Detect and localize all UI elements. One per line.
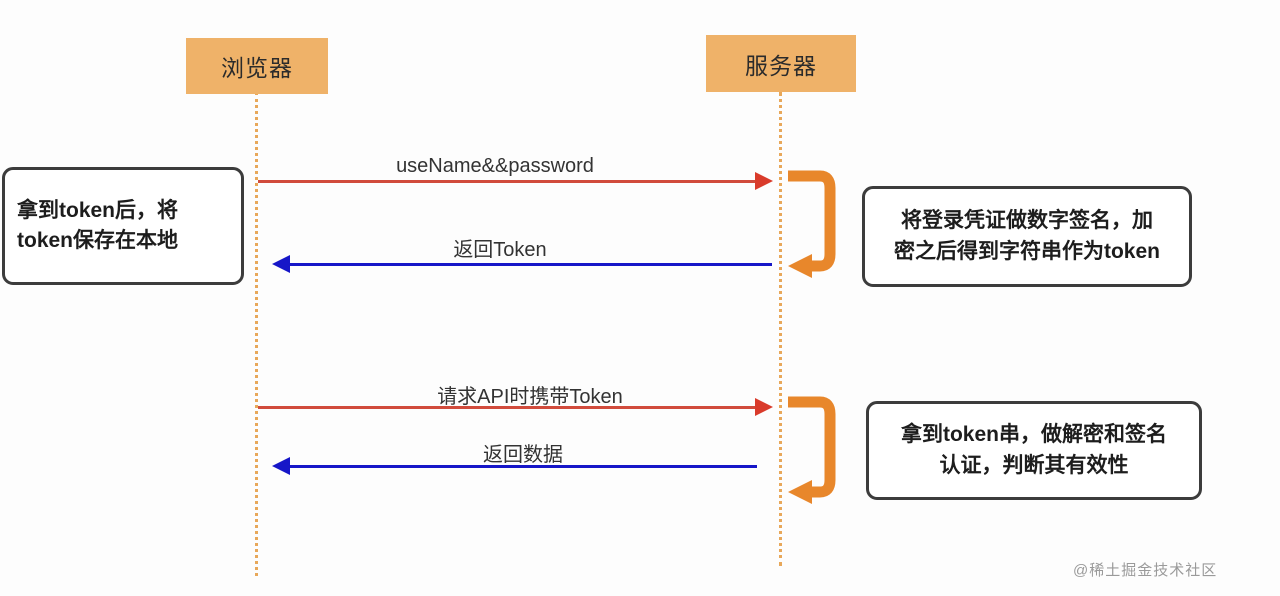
message-label-4: 返回数据 bbox=[438, 438, 608, 467]
note-server-verify-token: 拿到token串，做解密和签名 认证，判断其有效性 bbox=[866, 401, 1202, 500]
message-label-3: 请求API时携带Token bbox=[410, 380, 650, 409]
note-server-sign-token-text: 将登录凭证做数字签名，加 密之后得到字符串作为token bbox=[894, 206, 1160, 267]
message-arrow-2-head bbox=[272, 255, 290, 273]
note-server-sign-token: 将登录凭证做数字签名，加 密之后得到字符串作为token bbox=[862, 186, 1192, 287]
message-arrow-3-head bbox=[755, 398, 773, 416]
note-line: 拿到token串，做解密和签名 bbox=[901, 420, 1167, 450]
note-browser-store-token: 拿到token后，将 token保存在本地 bbox=[2, 167, 244, 285]
participant-browser[interactable]: 浏览器 bbox=[186, 38, 328, 94]
note-server-verify-token-text: 拿到token串，做解密和签名 认证，判断其有效性 bbox=[901, 420, 1167, 481]
note-line: 密之后得到字符串作为token bbox=[894, 237, 1160, 267]
message-arrow-1-shaft bbox=[258, 180, 758, 183]
message-arrow-4-shaft bbox=[287, 465, 757, 468]
message-arrow-2-shaft bbox=[287, 263, 772, 266]
note-line: 拿到token后，将 bbox=[17, 196, 178, 226]
message-label-2: 返回Token bbox=[415, 233, 585, 262]
note-line: 认证，判断其有效性 bbox=[901, 451, 1167, 481]
sequence-diagram-canvas: 浏览器 服务器 useName&&password 返回Token 请求API时… bbox=[0, 0, 1280, 596]
participant-browser-label: 浏览器 bbox=[221, 49, 293, 83]
participant-server-label: 服务器 bbox=[745, 47, 817, 81]
self-loop-arrow-1 bbox=[784, 166, 846, 278]
watermark-label: @稀土掘金技术社区 bbox=[1073, 559, 1217, 580]
note-browser-store-token-text: 拿到token后，将 token保存在本地 bbox=[17, 196, 178, 257]
message-arrow-4-head bbox=[272, 457, 290, 475]
note-line: 将登录凭证做数字签名，加 bbox=[894, 206, 1160, 236]
message-arrow-3-shaft bbox=[258, 406, 758, 409]
message-label-1: useName&&password bbox=[380, 155, 610, 178]
message-arrow-1-head bbox=[755, 172, 773, 190]
participant-server[interactable]: 服务器 bbox=[706, 35, 856, 92]
note-line: token保存在本地 bbox=[17, 226, 178, 256]
self-loop-arrow-2 bbox=[784, 392, 846, 504]
lifeline-server bbox=[779, 92, 782, 566]
lifeline-browser bbox=[255, 92, 258, 576]
